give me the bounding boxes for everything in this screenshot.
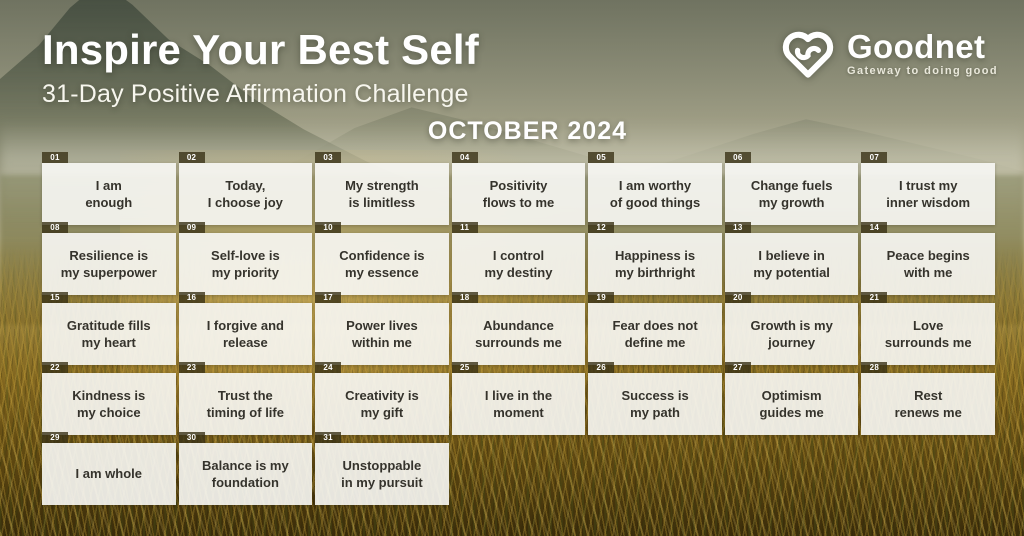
calendar-day-card[interactable]: 24Creativity is my gift [315, 373, 449, 435]
calendar-day-card[interactable]: 13I believe in my potential [725, 233, 859, 295]
day-number-badge: 31 [315, 432, 341, 443]
affirmation-text: I believe in my potential [748, 247, 835, 281]
day-number-badge: 29 [42, 432, 68, 443]
day-number-badge: 11 [452, 222, 478, 233]
logo-name: Goodnet [847, 30, 998, 63]
affirmation-text: Abundance surrounds me [470, 317, 567, 351]
day-number-badge: 05 [588, 152, 614, 163]
calendar-day-card[interactable]: 31Unstoppable in my pursuit [315, 443, 449, 505]
affirmation-text: I live in the moment [480, 387, 557, 421]
affirmation-text: I trust my inner wisdom [881, 177, 975, 211]
day-number-badge: 18 [452, 292, 478, 303]
day-number-badge: 14 [861, 222, 887, 233]
calendar-day-card[interactable]: 27Optimism guides me [725, 373, 859, 435]
affirmation-text: Kindness is my choice [67, 387, 150, 421]
calendar-day-card[interactable]: 21Love surrounds me [861, 303, 995, 365]
day-number-badge: 19 [588, 292, 614, 303]
day-number-badge: 04 [452, 152, 478, 163]
day-number-badge: 10 [315, 222, 341, 233]
affirmation-text: Fear does not define me [607, 317, 702, 351]
calendar-day-card[interactable]: 30Balance is my foundation [179, 443, 313, 505]
day-number-badge: 23 [179, 362, 205, 373]
day-number-badge: 01 [42, 152, 68, 163]
page-subtitle: 31-Day Positive Affirmation Challenge [42, 80, 469, 109]
affirmation-text: Growth is my journey [745, 317, 837, 351]
calendar-empty-slot [725, 443, 859, 505]
calendar-day-card[interactable]: 23Trust the timing of life [179, 373, 313, 435]
day-number-badge: 02 [179, 152, 205, 163]
goodnet-logo[interactable]: Goodnet Gateway to doing good [780, 27, 998, 79]
calendar-day-card[interactable]: 25I live in the moment [452, 373, 586, 435]
calendar-day-card[interactable]: 01I am enough [42, 163, 176, 225]
affirmation-text: I forgive and release [202, 317, 289, 351]
calendar-empty-slot [588, 443, 722, 505]
calendar-day-card[interactable]: 10Confidence is my essence [315, 233, 449, 295]
calendar-empty-slot [452, 443, 586, 505]
affirmation-text: Confidence is my essence [334, 247, 429, 281]
calendar-day-card[interactable]: 02Today, I choose joy [179, 163, 313, 225]
affirmation-text: I control my destiny [480, 247, 558, 281]
calendar-day-card[interactable]: 09Self-love is my priority [179, 233, 313, 295]
calendar-day-card[interactable]: 06Change fuels my growth [725, 163, 859, 225]
day-number-badge: 12 [588, 222, 614, 233]
day-number-badge: 13 [725, 222, 751, 233]
calendar-day-card[interactable]: 14Peace begins with me [861, 233, 995, 295]
day-number-badge: 07 [861, 152, 887, 163]
calendar-day-card[interactable]: 16I forgive and release [179, 303, 313, 365]
calendar-day-card[interactable]: 07I trust my inner wisdom [861, 163, 995, 225]
logo-wordmark: Goodnet Gateway to doing good [847, 30, 998, 77]
calendar-grid: 01I am enough02Today, I choose joy03My s… [42, 163, 995, 505]
day-number-badge: 24 [315, 362, 341, 373]
affirmation-text: Today, I choose joy [203, 177, 288, 211]
affirmation-text: Happiness is my birthright [610, 247, 700, 281]
calendar-day-card[interactable]: 08Resilience is my superpower [42, 233, 176, 295]
day-number-badge: 20 [725, 292, 751, 303]
day-number-badge: 22 [42, 362, 68, 373]
affirmation-text: Positivity flows to me [478, 177, 560, 211]
affirmation-text: Optimism guides me [754, 387, 828, 421]
calendar-day-card[interactable]: 26Success is my path [588, 373, 722, 435]
affirmation-text: Success is my path [616, 387, 693, 421]
calendar-day-card[interactable]: 17Power lives within me [315, 303, 449, 365]
day-number-badge: 27 [725, 362, 751, 373]
affirmation-text: Peace begins with me [882, 247, 975, 281]
affirmation-text: I am worthy of good things [605, 177, 705, 211]
day-number-badge: 21 [861, 292, 887, 303]
calendar-day-card[interactable]: 22Kindness is my choice [42, 373, 176, 435]
affirmation-text: Power lives within me [341, 317, 423, 351]
affirmation-text: I am enough [80, 177, 137, 211]
heart-infinity-icon [780, 27, 836, 79]
affirmation-text: Love surrounds me [880, 317, 977, 351]
calendar-day-card[interactable]: 11I control my destiny [452, 233, 586, 295]
calendar-day-card[interactable]: 05I am worthy of good things [588, 163, 722, 225]
day-number-badge: 06 [725, 152, 751, 163]
day-number-badge: 16 [179, 292, 205, 303]
affirmation-text: Balance is my foundation [197, 457, 294, 491]
affirmation-text: Gratitude fills my heart [62, 317, 156, 351]
calendar-day-card[interactable]: 03My strength is limitless [315, 163, 449, 225]
day-number-badge: 30 [179, 432, 205, 443]
day-number-badge: 03 [315, 152, 341, 163]
page-title: Inspire Your Best Self [42, 26, 479, 74]
calendar-day-card[interactable]: 19Fear does not define me [588, 303, 722, 365]
affirmation-text: Trust the timing of life [202, 387, 289, 421]
calendar-day-card[interactable]: 20Growth is my journey [725, 303, 859, 365]
day-number-badge: 15 [42, 292, 68, 303]
calendar-day-card[interactable]: 29I am whole [42, 443, 176, 505]
calendar-empty-slot [861, 443, 995, 505]
calendar-day-card[interactable]: 28Rest renews me [861, 373, 995, 435]
affirmation-text: Unstoppable in my pursuit [336, 457, 428, 491]
affirmation-calendar-poster: Inspire Your Best Self 31-Day Positive A… [0, 0, 1024, 536]
logo-tagline: Gateway to doing good [847, 66, 998, 77]
affirmation-text: Creativity is my gift [340, 387, 424, 421]
affirmation-text: Resilience is my superpower [56, 247, 162, 281]
affirmation-text: I am whole [71, 465, 147, 482]
poster-header: Inspire Your Best Self 31-Day Positive A… [0, 0, 1024, 155]
day-number-badge: 26 [588, 362, 614, 373]
affirmation-text: My strength is limitless [340, 177, 424, 211]
month-label: OCTOBER 2024 [42, 117, 627, 146]
day-number-badge: 25 [452, 362, 478, 373]
day-number-badge: 17 [315, 292, 341, 303]
affirmation-text: Rest renews me [890, 387, 967, 421]
calendar-day-card[interactable]: 04Positivity flows to me [452, 163, 586, 225]
affirmation-text: Self-love is my priority [206, 247, 285, 281]
affirmation-text: Change fuels my growth [746, 177, 838, 211]
day-number-badge: 09 [179, 222, 205, 233]
calendar-day-card[interactable]: 12Happiness is my birthright [588, 233, 722, 295]
calendar-day-card[interactable]: 15Gratitude fills my heart [42, 303, 176, 365]
day-number-badge: 28 [861, 362, 887, 373]
day-number-badge: 08 [42, 222, 68, 233]
calendar-day-card[interactable]: 18Abundance surrounds me [452, 303, 586, 365]
